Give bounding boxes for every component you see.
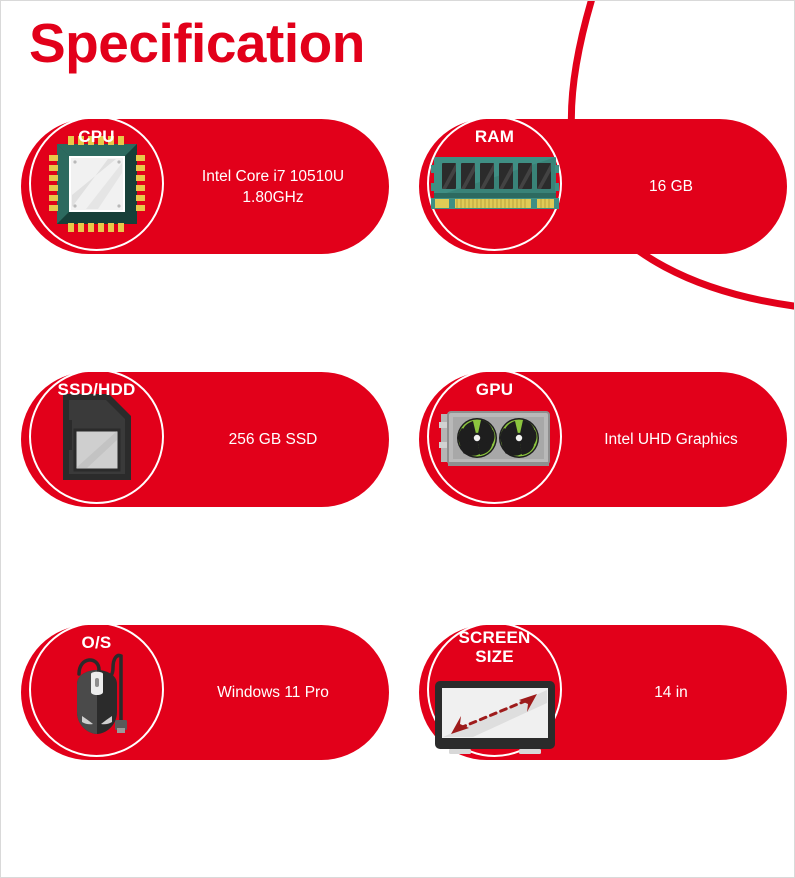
spec-label: SCREEN SIZE <box>427 628 562 666</box>
spec-label: SSD/HDD <box>29 380 164 399</box>
spec-label: CPU <box>29 127 164 146</box>
spec-row-2: SSD/HDD 256 GB SSD <box>1 372 795 625</box>
spec-value: Intel UHD Graphics <box>569 372 773 507</box>
spec-card-os[interactable]: O/S Windows 11 Pro <box>21 625 389 760</box>
spec-value: 14 in <box>569 625 773 760</box>
spec-card-gpu[interactable]: GPU Intel UHD Graphics <box>419 372 787 507</box>
spec-label: O/S <box>29 633 164 652</box>
spec-row-3: O/S Windows 11 Pro <box>1 625 795 878</box>
spec-value: Intel Core i7 10510U 1.80GHz <box>171 119 375 254</box>
spec-label: GPU <box>427 380 562 399</box>
specification-page: Specification <box>0 0 795 878</box>
spec-value: Windows 11 Pro <box>171 625 375 760</box>
spec-card-screen-size[interactable]: SCREEN SIZE 14 in <box>419 625 787 760</box>
spec-row-1: CPU Intel Core i7 10510U 1.80GHz <box>1 119 795 372</box>
spec-card-ram[interactable]: RAM 16 GB <box>419 119 787 254</box>
spec-card-cpu[interactable]: CPU Intel Core i7 10510U 1.80GHz <box>21 119 389 254</box>
spec-card-grid: CPU Intel Core i7 10510U 1.80GHz <box>1 119 795 878</box>
spec-value: 16 GB <box>569 119 773 254</box>
spec-value: 256 GB SSD <box>171 372 375 507</box>
spec-label: RAM <box>427 127 562 146</box>
page-title: Specification <box>29 15 365 73</box>
spec-card-storage[interactable]: SSD/HDD 256 GB SSD <box>21 372 389 507</box>
